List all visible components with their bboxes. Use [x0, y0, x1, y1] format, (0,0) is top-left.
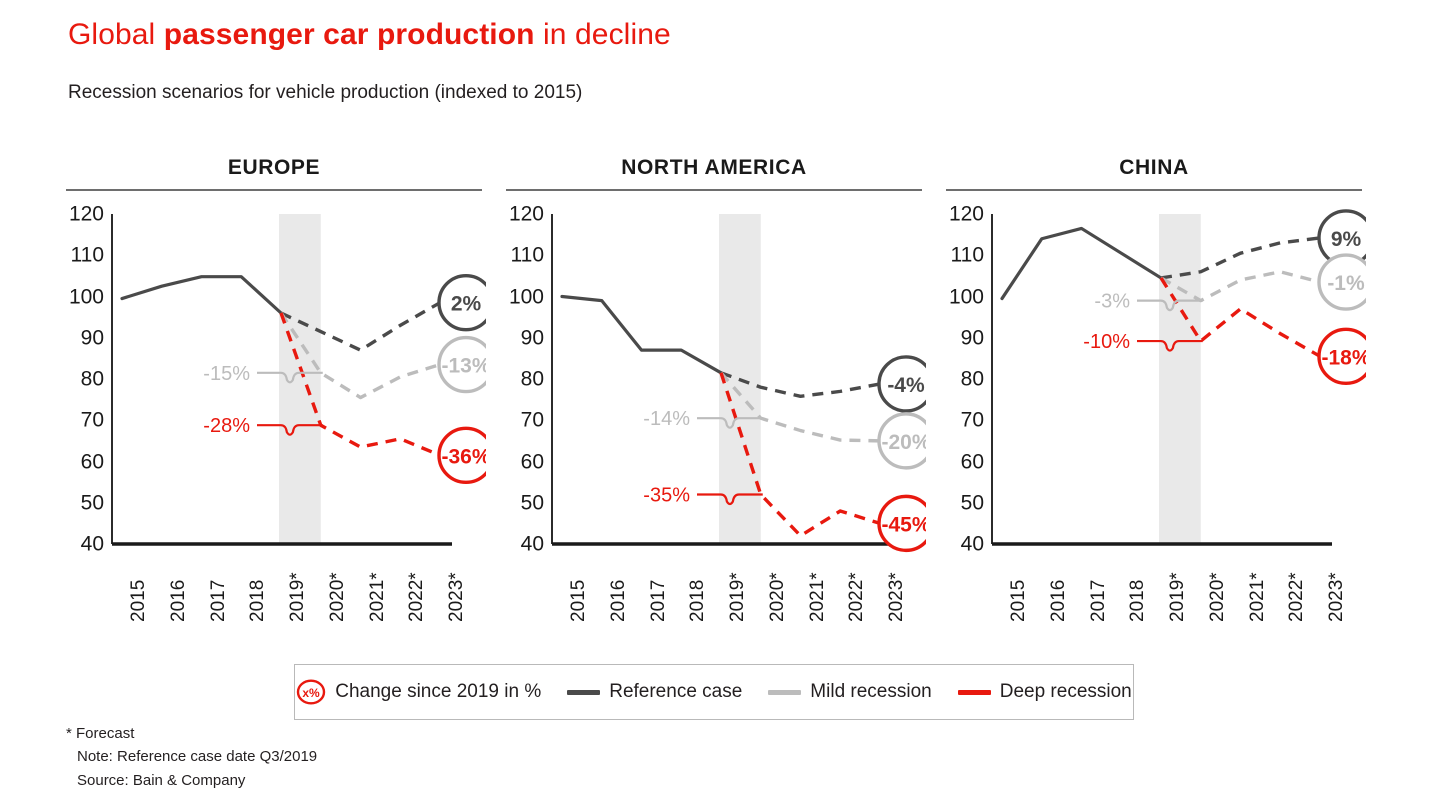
x-axis-tick-label: 2023* [1327, 572, 1346, 622]
x-axis-tick-label: 2019* [728, 572, 747, 622]
page-title-prefix: Global [68, 18, 164, 51]
inline-callout-label: -3% [1094, 291, 1130, 313]
x-axis-tick-label: 2019* [1168, 572, 1187, 622]
change-badge-icon: x% [296, 679, 326, 705]
x-axis-tick-label: 2018 [1128, 580, 1147, 622]
end-callout-badge: 2% [439, 276, 486, 330]
x-axis-tick-label: 2019* [288, 572, 307, 622]
chart-panel-europe: EUROPE405060708090100110120-15%-28%2%-13… [66, 150, 482, 640]
svg-text:-18%: -18% [1321, 346, 1366, 369]
x-axis-tick-label: 2021* [368, 572, 387, 622]
inline-callout-label: -35% [643, 485, 690, 507]
svg-text:-13%: -13% [441, 355, 486, 378]
plot-area: 405060708090100110120-15%-28%2%-13%-36%2… [66, 208, 486, 553]
svg-text:-4%: -4% [887, 374, 925, 397]
x-axis-tick-label: 2016 [1049, 580, 1068, 622]
series-line-solid [562, 297, 721, 373]
x-axis-tick-label: 2022* [407, 572, 426, 622]
legend-label-deep-recession: Deep recession [1000, 681, 1132, 703]
legend-item-reference-case: Reference case [567, 681, 742, 703]
x-axis-tick-label: 2017 [1089, 580, 1108, 622]
legend-item-deep-recession: Deep recession [958, 681, 1132, 703]
plot-svg: -15%-28%2%-13%-36% [66, 208, 486, 553]
svg-text:-36%: -36% [441, 445, 486, 468]
x-axis-tick-label: 2022* [1287, 572, 1306, 622]
page-title-emphasis: passenger car production [164, 18, 535, 51]
footnote-forecast: * Forecast [66, 722, 317, 745]
end-callout-badge: -4% [879, 357, 926, 411]
legend-label-reference-case: Reference case [609, 681, 742, 703]
x-axis-tick-label: 2015 [1009, 580, 1028, 622]
panel-divider [66, 189, 482, 191]
x-axis-tick-label: 2016 [169, 580, 188, 622]
footnote-source: Source: Bain & Company [66, 769, 317, 792]
x-axis-tick-label: 2021* [1248, 572, 1267, 622]
x-axis-tick-label: 2020* [328, 572, 347, 622]
plot-svg: -14%-35%-4%-20%-45% [506, 208, 926, 553]
deep-recession-swatch-icon [958, 690, 991, 695]
recession-band [279, 214, 321, 544]
svg-text:9%: 9% [1331, 228, 1362, 251]
plot-area: 405060708090100110120-3%-10%9%-1%-18%201… [946, 208, 1366, 553]
series-line-solid [122, 277, 281, 313]
x-axis-tick-label: 2021* [808, 572, 827, 622]
end-callout-badge: -18% [1319, 329, 1366, 383]
panel-title: CHINA [946, 156, 1362, 180]
series-line-solid [1002, 228, 1161, 298]
legend-item-change-since-2019: x% Change since 2019 in % [296, 679, 541, 705]
chart-panel-china: CHINA405060708090100110120-3%-10%9%-1%-1… [946, 150, 1362, 640]
end-callout-badge: -36% [439, 428, 486, 482]
page-title: Global passenger car production in decli… [68, 18, 671, 52]
plot-area: 405060708090100110120-14%-35%-4%-20%-45%… [506, 208, 926, 553]
panel-divider [506, 189, 922, 191]
legend-label-change-since-2019: Change since 2019 in % [335, 681, 541, 703]
svg-text:-1%: -1% [1327, 272, 1365, 295]
panel-title: EUROPE [66, 156, 482, 180]
page-title-suffix: in decline [535, 18, 671, 51]
x-axis-tick-label: 2018 [248, 580, 267, 622]
inline-callout-label: -28% [203, 415, 250, 437]
x-axis-tick-label: 2015 [129, 580, 148, 622]
x-axis-tick-label: 2017 [209, 580, 228, 622]
inline-callout-label: -15% [203, 363, 250, 385]
end-callout-badge: -20% [879, 414, 926, 468]
panel-divider [946, 189, 1362, 191]
mild-recession-swatch-icon [768, 690, 801, 695]
x-axis-tick-label: 2022* [847, 572, 866, 622]
panel-title: NORTH AMERICA [506, 156, 922, 180]
x-axis-tick-label: 2023* [447, 572, 466, 622]
x-axis-tick-label: 2020* [1208, 572, 1227, 622]
inline-callout-label: -10% [1083, 331, 1130, 353]
page-subtitle: Recession scenarios for vehicle producti… [68, 82, 582, 104]
plot-svg: -3%-10%9%-1%-18% [946, 208, 1366, 553]
recession-band [1159, 214, 1201, 544]
legend-label-mild-recession: Mild recession [810, 681, 931, 703]
svg-text:-20%: -20% [881, 431, 926, 454]
end-callout-badge: -45% [879, 496, 926, 550]
x-axis-tick-label: 2016 [609, 580, 628, 622]
reference-case-swatch-icon [567, 690, 600, 695]
inline-callout-label: -14% [643, 408, 690, 430]
x-axis-tick-label: 2017 [649, 580, 668, 622]
footnote-note: Note: Reference case date Q3/2019 [66, 745, 317, 768]
x-axis-tick-label: 2023* [887, 572, 906, 622]
svg-text:-45%: -45% [881, 513, 926, 536]
chart-panel-north-america: NORTH AMERICA405060708090100110120-14%-3… [506, 150, 922, 640]
chart-legend: x% Change since 2019 in % Reference case… [294, 664, 1134, 720]
legend-item-mild-recession: Mild recession [768, 681, 931, 703]
svg-text:2%: 2% [451, 293, 482, 316]
svg-text:x%: x% [303, 686, 321, 700]
end-callout-badge: -13% [439, 338, 486, 392]
end-callout-badge: -1% [1319, 255, 1366, 309]
x-axis-tick-label: 2015 [569, 580, 588, 622]
footnotes: * Forecast Note: Reference case date Q3/… [66, 722, 317, 792]
x-axis-tick-label: 2020* [768, 572, 787, 622]
x-axis-tick-label: 2018 [688, 580, 707, 622]
